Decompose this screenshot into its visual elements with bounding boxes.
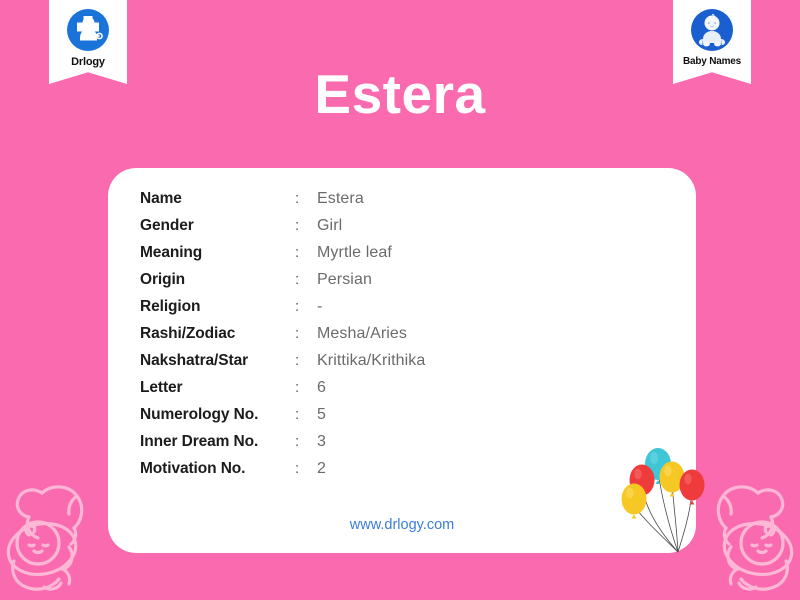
row-separator: : <box>295 325 317 342</box>
doctor-stethoscope-cross-icon <box>66 8 110 52</box>
row-label: Origin <box>140 271 295 289</box>
row-value: Estera <box>317 190 364 208</box>
row-separator: : <box>295 406 317 423</box>
table-row: Religion : - <box>140 298 620 325</box>
row-separator: : <box>295 244 317 261</box>
table-row: Numerology No. : 5 <box>140 406 620 433</box>
table-row: Rashi/Zodiac : Mesha/Aries <box>140 325 620 352</box>
row-value: Myrtle leaf <box>317 244 392 262</box>
row-separator: : <box>295 271 317 288</box>
badge-drlogy-label: Drlogy <box>71 57 105 68</box>
row-value: 3 <box>317 433 326 451</box>
info-table: Name : Estera Gender : Girl Meaning : My… <box>140 190 620 487</box>
row-label: Motivation No. <box>140 460 295 478</box>
mother-baby-icon-right <box>692 465 800 600</box>
row-value: 6 <box>317 379 326 397</box>
row-separator: : <box>295 379 317 396</box>
badge-drlogy[interactable]: Drlogy <box>49 0 127 84</box>
row-value: Mesha/Aries <box>317 325 407 343</box>
row-value: Krittika/Krithika <box>317 352 425 370</box>
table-row: Motivation No. : 2 <box>140 460 620 487</box>
row-value: 5 <box>317 406 326 424</box>
badge-drlogy-body: Drlogy <box>49 0 127 84</box>
row-label: Rashi/Zodiac <box>140 325 295 343</box>
row-label: Letter <box>140 379 295 397</box>
row-label: Gender <box>140 217 295 235</box>
row-value: Girl <box>317 217 342 235</box>
row-separator: : <box>295 298 317 315</box>
table-row: Origin : Persian <box>140 271 620 298</box>
badge-baby-names[interactable]: Baby Names <box>673 0 751 84</box>
badge-baby-names-body: Baby Names <box>673 0 751 84</box>
row-label: Name <box>140 190 295 208</box>
row-separator: : <box>295 217 317 234</box>
row-value: 2 <box>317 460 326 478</box>
badge-baby-names-label: Baby Names <box>683 57 741 67</box>
row-separator: : <box>295 190 317 207</box>
row-label: Meaning <box>140 244 295 262</box>
row-label: Numerology No. <box>140 406 295 424</box>
table-row: Gender : Girl <box>140 217 620 244</box>
website-url[interactable]: www.drlogy.com <box>108 517 696 533</box>
row-label: Inner Dream No. <box>140 433 295 451</box>
row-label: Nakshatra/Star <box>140 352 295 370</box>
row-separator: : <box>295 433 317 450</box>
name-details-card: Name : Estera Gender : Girl Meaning : My… <box>108 168 696 553</box>
row-value: Persian <box>317 271 372 289</box>
baby-sitting-icon <box>690 8 734 52</box>
table-row: Meaning : Myrtle leaf <box>140 244 620 271</box>
table-row: Name : Estera <box>140 190 620 217</box>
row-separator: : <box>295 352 317 369</box>
table-row: Letter : 6 <box>140 379 620 406</box>
row-value: - <box>317 298 322 316</box>
row-label: Religion <box>140 298 295 316</box>
mother-baby-icon-left <box>0 465 108 600</box>
table-row: Inner Dream No. : 3 <box>140 433 620 460</box>
poster-canvas: Drlogy Baby Names Estera <box>0 0 800 600</box>
row-separator: : <box>295 460 317 477</box>
table-row: Nakshatra/Star : Krittika/Krithika <box>140 352 620 379</box>
